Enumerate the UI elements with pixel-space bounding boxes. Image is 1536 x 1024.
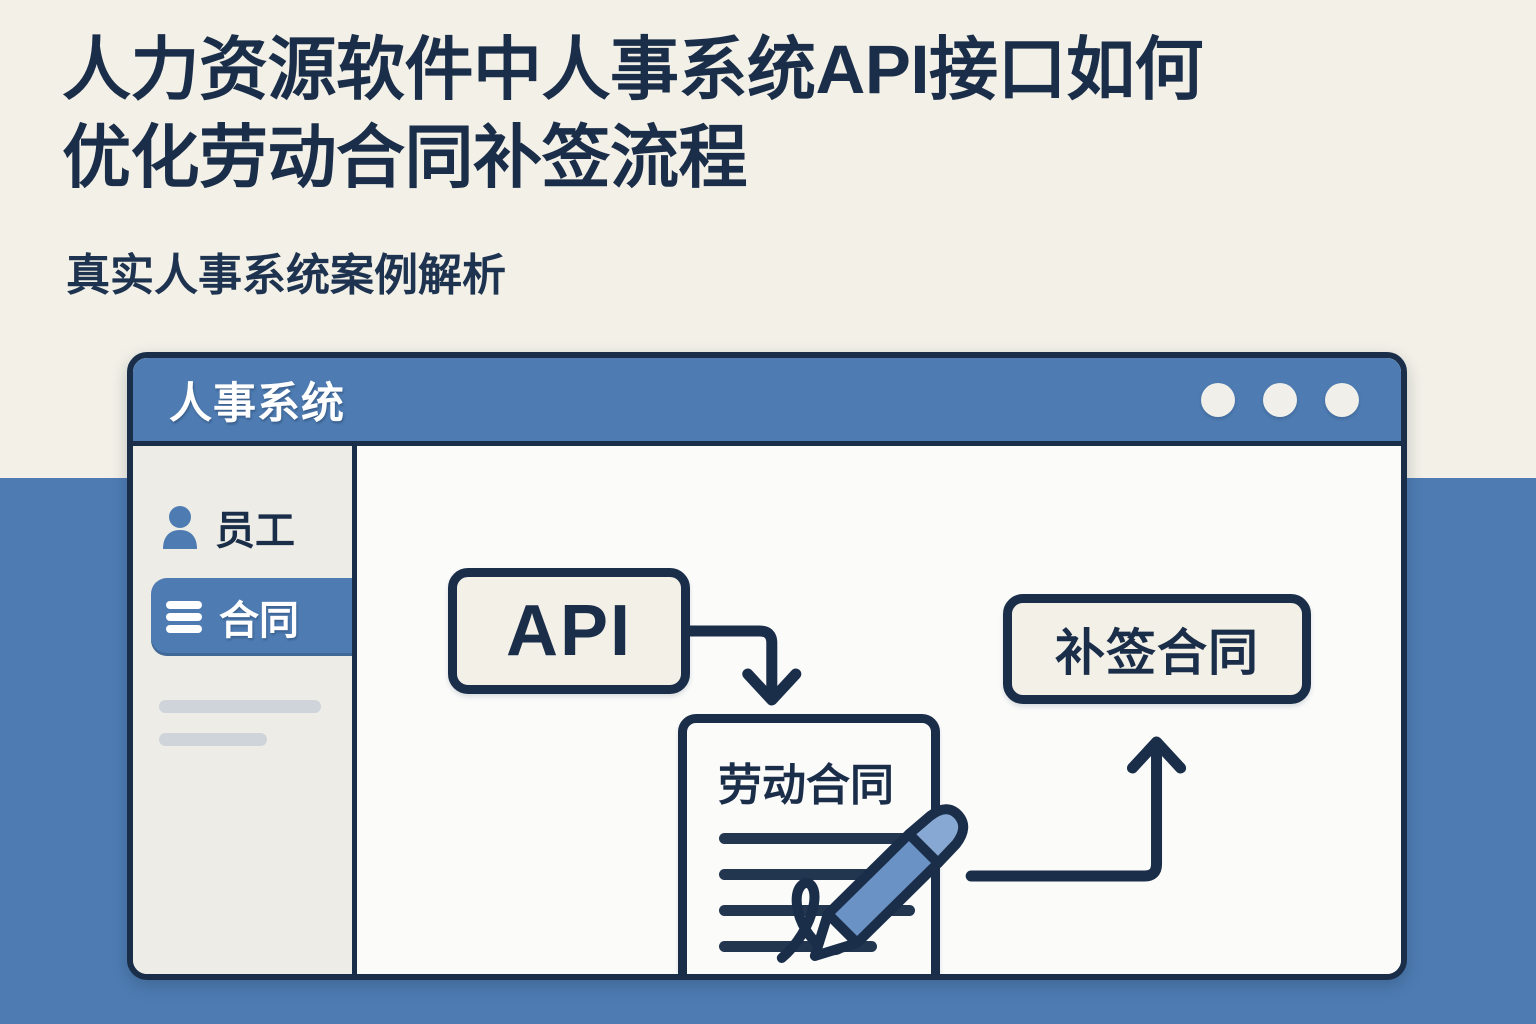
document-text-line — [719, 833, 915, 844]
placeholder-bar-1 — [159, 700, 321, 713]
window-title: 人事系统 — [169, 369, 345, 431]
document-text-line — [719, 869, 915, 880]
window-control-dot-2[interactable] — [1263, 383, 1297, 417]
headline-block: 人力资源软件中人事系统API接口如何 优化劳动合同补签流程 — [62, 26, 1482, 202]
connector-api-to-contract — [691, 631, 796, 700]
diagram-canvas: API 补签合同 劳动合同 — [357, 446, 1401, 980]
node-api[interactable]: API — [448, 568, 690, 694]
user-icon — [159, 505, 201, 549]
sidebar-item-contracts-label: 合同 — [219, 588, 299, 646]
window-controls — [1201, 383, 1359, 417]
app-window: 人事系统 员工 — [127, 352, 1407, 980]
window-body: 员工 合同 API — [133, 446, 1401, 980]
window-titlebar: 人事系统 — [133, 358, 1401, 446]
subtitle: 真实人事系统案例解析 — [66, 248, 506, 304]
window-control-dot-1[interactable] — [1201, 383, 1235, 417]
document-text-line — [719, 941, 877, 952]
document-text-line — [719, 905, 915, 916]
node-resign-contract-label: 补签合同 — [1055, 613, 1259, 685]
document-text-line — [719, 977, 841, 980]
document-title: 劳动合同 — [718, 749, 894, 813]
node-resign-contract[interactable]: 补签合同 — [1003, 594, 1311, 704]
headline-line-1: 人力资源软件中人事系统API接口如何 — [62, 26, 1482, 114]
sidebar-item-employees[interactable]: 员工 — [133, 488, 352, 566]
sidebar: 员工 合同 — [133, 446, 357, 980]
window-control-dot-3[interactable] — [1325, 383, 1359, 417]
sidebar-item-employees-label: 员工 — [215, 498, 295, 556]
connector-contract-to-resign — [971, 742, 1180, 876]
node-labor-contract-document[interactable]: 劳动合同 — [678, 714, 940, 980]
placeholder-bar-2 — [159, 733, 267, 746]
sidebar-item-contracts[interactable]: 合同 — [151, 578, 352, 656]
node-api-label: API — [506, 590, 632, 672]
headline-line-2: 优化劳动合同补签流程 — [62, 114, 1482, 202]
menu-icon — [163, 600, 205, 634]
